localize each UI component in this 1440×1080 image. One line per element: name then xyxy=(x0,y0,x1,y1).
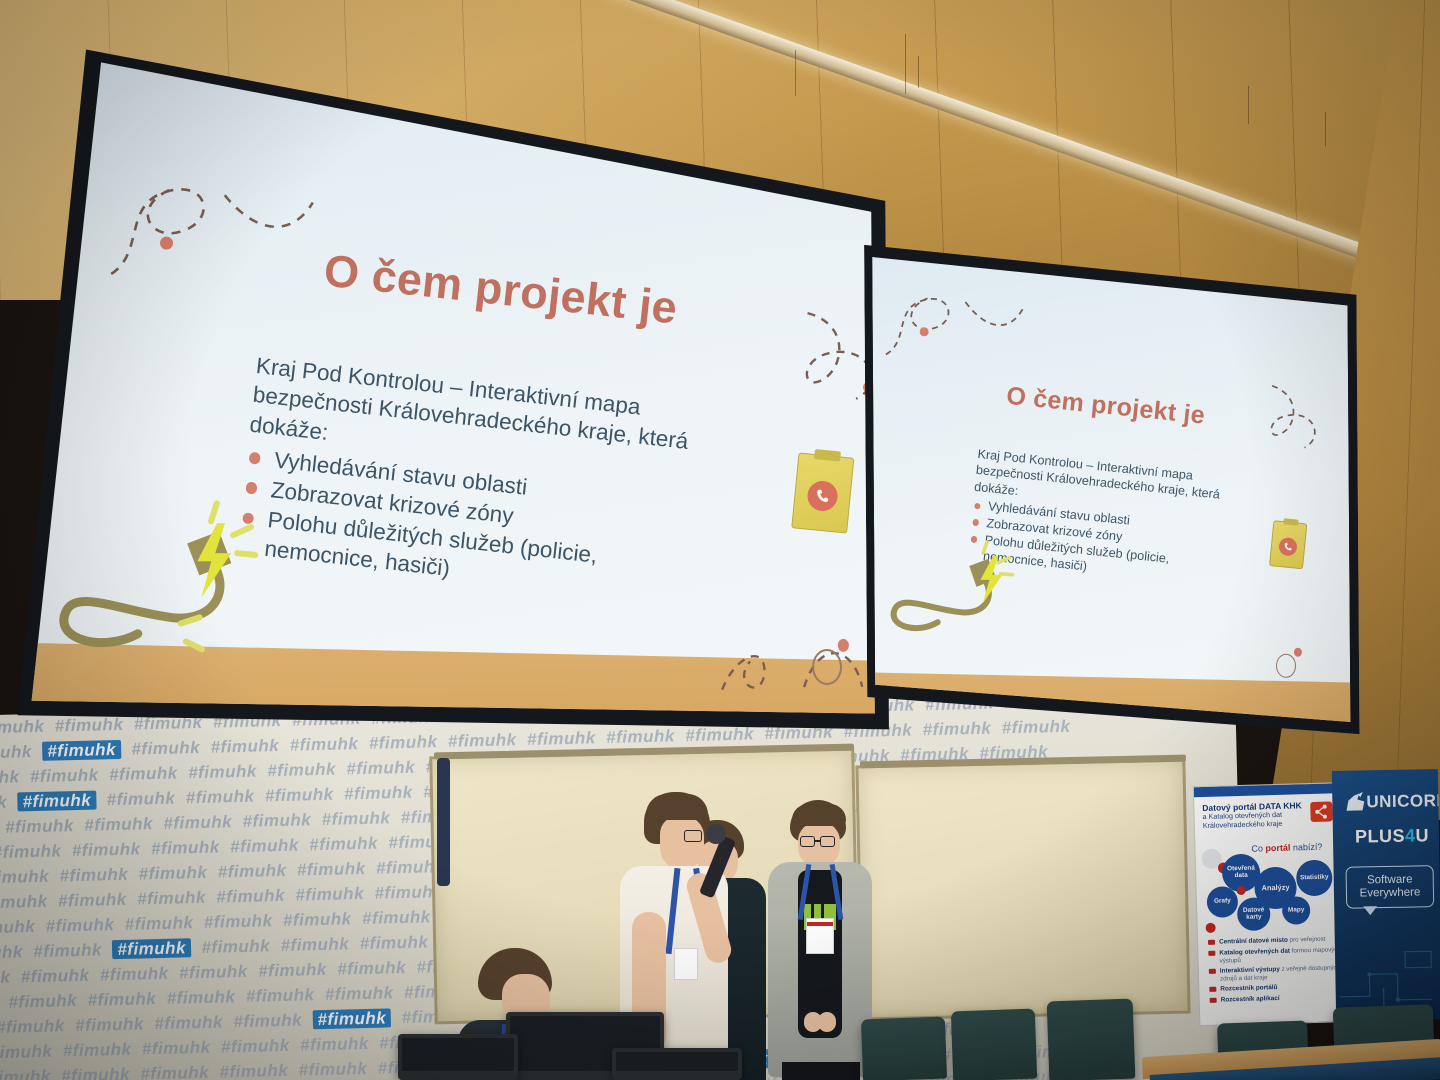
dashed-squiggle-icon xyxy=(1266,381,1357,462)
poster-bubble-dot xyxy=(1236,886,1245,895)
fimuhk-tag: #fimuhk xyxy=(30,765,99,786)
poster-feature-note: pro veřejnost xyxy=(1288,936,1326,944)
badge-card-decor xyxy=(1269,520,1307,569)
banner-tagline-bubble: Software Everywhere xyxy=(1346,865,1435,909)
dashed-squiggle-icon xyxy=(104,146,335,268)
fimuhk-tag: #fimuhk xyxy=(154,1012,223,1033)
hand xyxy=(818,1012,836,1032)
fimuhk-tag: #fimuhk xyxy=(246,985,315,1006)
fimuhk-tag: #fimuhk xyxy=(216,886,285,907)
poster-bubble-dot xyxy=(1206,923,1216,933)
monitor-left xyxy=(398,1034,518,1080)
fimuhk-tag: #fimuhk xyxy=(21,966,90,987)
glasses-bridge xyxy=(815,840,820,842)
decor-dot xyxy=(920,327,929,336)
fimuhk-tag: #fimuhk xyxy=(325,983,394,1004)
fimuhk-tag: #fimuhk xyxy=(58,890,127,911)
poster-feature-title: Interaktivní výstupy xyxy=(1220,966,1280,975)
screenshot-root: #fimuhk #fimuhk #fimuhk #fimuhk #fimuhk … xyxy=(0,0,1440,1080)
slide-title: O čem projekt je xyxy=(1005,382,1206,431)
fimuhk-tag: #fimuhk xyxy=(63,1040,132,1061)
fimuhk-tag: #fimuhk xyxy=(109,764,178,785)
fimuhk-tag: #fimuhk xyxy=(5,816,74,837)
fimuhk-tag: #fimuhk xyxy=(298,1059,367,1080)
fimuhk-tag: #fimuhk xyxy=(258,960,327,981)
fimuhk-tag: #fimuhk xyxy=(359,932,428,953)
fimuhk-tag: #fimuhk xyxy=(219,1061,288,1080)
hair-fringe xyxy=(646,794,708,820)
fimuhk-tag: #fimuhk xyxy=(0,867,49,888)
fimuhk-tag: #fimuhk xyxy=(218,861,287,882)
fimuhk-tag: #fimuhk xyxy=(0,942,23,963)
fimuhk-tag: #fimuhk xyxy=(346,758,415,779)
poster-bubble-grafy: Grafy xyxy=(1206,886,1238,918)
poster-feature-title: Rozcestník portálů xyxy=(1220,984,1277,993)
phone-icon xyxy=(1283,541,1294,552)
fimuhk-tag: #fimuhk xyxy=(201,936,270,957)
fimuhk-tag: #fimuhk xyxy=(0,917,35,938)
glasses xyxy=(820,836,835,847)
fimuhk-tag: #fimuhk xyxy=(140,1063,209,1080)
fimuhk-tag: #fimuhk xyxy=(344,783,413,804)
fimuhk-tag: #fimuhk xyxy=(312,1008,391,1029)
poster-feature-list: Centrální datové místo pro veřejnostKata… xyxy=(1208,935,1350,1007)
fimuhk-tag: #fimuhk xyxy=(166,987,235,1008)
fimuhk-tag: #fimuhk xyxy=(0,841,62,862)
poster-feature-item: Rozcestník aplikací xyxy=(1210,993,1350,1005)
fimuhk-tag: #fimuhk xyxy=(33,940,102,961)
fimuhk-tag: #fimuhk xyxy=(280,934,349,955)
banner-unicorn: UNICORN PLUS4U Software Everywhere xyxy=(1332,769,1440,1021)
phone-icon xyxy=(814,487,831,504)
fimuhk-tag: #fimuhk xyxy=(106,789,175,810)
poster-feature-title: Centrální datové místo xyxy=(1219,937,1288,946)
fimuhk-tag: #fimuhk xyxy=(0,1042,53,1063)
chair xyxy=(1047,999,1136,1080)
microphone-head xyxy=(706,824,726,844)
banner-tagline-line2: Everywhere xyxy=(1360,886,1421,900)
lightning-bolt-icon xyxy=(973,554,1011,606)
fimuhk-tag: #fimuhk xyxy=(204,911,273,932)
fimuhk-tag: #fimuhk xyxy=(8,991,77,1012)
unicorn-icon xyxy=(1342,792,1368,812)
fimuhk-tag: #fimuhk xyxy=(0,968,11,989)
fimuhk-tag: #fimuhk xyxy=(45,915,114,936)
fimuhk-tag: #fimuhk xyxy=(87,989,156,1010)
fimuhk-tag: #fimuhk xyxy=(297,859,366,880)
dashed-squiggle-icon xyxy=(881,267,1042,358)
fimuhk-tag: #fimuhk xyxy=(230,836,299,857)
fimuhk-tag: #fimuhk xyxy=(295,884,364,905)
fimuhk-tag: #fimuhk xyxy=(321,808,390,829)
fimuhk-tag: #fimuhk xyxy=(0,767,20,788)
fimuhk-tag: #fimuhk xyxy=(0,892,48,913)
glasses xyxy=(800,836,815,847)
fimuhk-tag: #fimuhk xyxy=(0,1016,65,1037)
fimuhk-tag: #fimuhk xyxy=(362,907,431,928)
monitor-screen xyxy=(402,1038,514,1071)
decor-ring xyxy=(812,649,842,685)
fimuhk-tag: #fimuhk xyxy=(0,793,7,814)
fimuhk-tag: #fimuhk xyxy=(75,1014,144,1035)
monitor-right xyxy=(612,1048,742,1080)
fimuhk-tag: #fimuhk xyxy=(17,791,96,812)
fimuhk-tag: #fimuhk xyxy=(337,958,406,979)
fimuhk-tag: #fimuhk xyxy=(186,787,255,808)
presentation-slide-right: O čem projekt je Kraj Pod Kontrolou – In… xyxy=(859,231,1363,742)
fimuhk-tag: #fimuhk xyxy=(151,838,220,859)
chair xyxy=(861,1017,947,1080)
poster-bubble-statistiky: Statistiky xyxy=(1296,859,1333,896)
badge-id xyxy=(806,918,834,954)
chair xyxy=(951,1009,1037,1080)
fimuhk-tag: #fimuhk xyxy=(163,812,232,833)
badge-id xyxy=(674,948,698,980)
fimuhk-tag: #fimuhk xyxy=(100,964,169,985)
fimuhk-tag: #fimuhk xyxy=(221,1036,290,1057)
decor-ring xyxy=(1276,654,1296,678)
fimuhk-tag: #fimuhk xyxy=(61,1065,130,1080)
poster-feature-title: Katalog otevřených dat xyxy=(1219,947,1290,956)
whiteboard-right xyxy=(855,759,1190,1021)
poster-bubble-mapy: Mapy xyxy=(1282,896,1311,925)
fimuhk-tag: #fimuhk xyxy=(138,863,207,884)
fimuhk-tag: #fimuhk xyxy=(142,1038,211,1059)
decor-dot xyxy=(160,237,173,250)
fimuhk-tag: #fimuhk xyxy=(300,1034,369,1055)
poster-top-bar xyxy=(1194,783,1354,797)
fimuhk-tag: #fimuhk xyxy=(233,1011,302,1032)
poster-feature-title: Rozcestník aplikací xyxy=(1221,994,1280,1003)
lightning-bolt-icon xyxy=(187,521,248,601)
poster-feature-item: Katalog otevřených dat formou mapových v… xyxy=(1208,946,1348,966)
fimuhk-tag: #fimuhk xyxy=(283,909,352,930)
banner-brand: UNICORN xyxy=(1366,791,1440,812)
fimuhk-tag: #fimuhk xyxy=(188,762,257,783)
legs xyxy=(782,1062,860,1080)
badge-card-decor xyxy=(791,452,854,533)
projection-screen-assembly: O čem projekt je Kraj Pod Kontrolou – In… xyxy=(0,3,1363,752)
banner-tagline-line1: Software xyxy=(1359,874,1420,888)
fimuhk-tag: #fimuhk xyxy=(137,888,206,909)
fimuhk-tag: #fimuhk xyxy=(84,814,153,835)
fimuhk-tag: #fimuhk xyxy=(112,938,191,959)
fimuhk-tag: #fimuhk xyxy=(72,839,141,860)
fimuhk-tag: #fimuhk xyxy=(267,760,336,781)
decor-dot xyxy=(838,639,849,652)
fimuhk-tag: #fimuhk xyxy=(0,1067,51,1080)
banner-product: PLUS4U xyxy=(1355,825,1429,847)
whiteboard-marker-holder xyxy=(437,758,450,886)
circuit-decor-icon xyxy=(1334,899,1440,1021)
fimuhk-tag: #fimuhk xyxy=(179,962,248,983)
glasses xyxy=(684,830,702,842)
poster-subheading-2: Královehradeckého kraje xyxy=(1203,819,1307,831)
fimuhk-tag: #fimuhk xyxy=(265,785,334,806)
poster-logo xyxy=(1310,801,1333,822)
share-nodes-icon xyxy=(1310,801,1333,822)
slide-body: Kraj Pod Kontrolou – Interaktivní mapa b… xyxy=(235,351,703,609)
fimuhk-tag: #fimuhk xyxy=(59,865,128,886)
fimuhk-tag: #fimuhk xyxy=(309,834,378,855)
fimuhk-tag: #fimuhk xyxy=(124,913,193,934)
monitor-screen xyxy=(616,1052,738,1071)
face xyxy=(660,816,704,870)
poster-question: Co portál nabízí? xyxy=(1251,842,1322,854)
slide-title: O čem projekt je xyxy=(321,244,679,334)
decor-dot xyxy=(1294,648,1302,657)
hair-fringe xyxy=(792,804,846,826)
poster-feature-item: Interaktivní výstupy z veřejně dostupnýc… xyxy=(1209,964,1349,984)
fimuhk-tag: #fimuhk xyxy=(242,810,311,831)
